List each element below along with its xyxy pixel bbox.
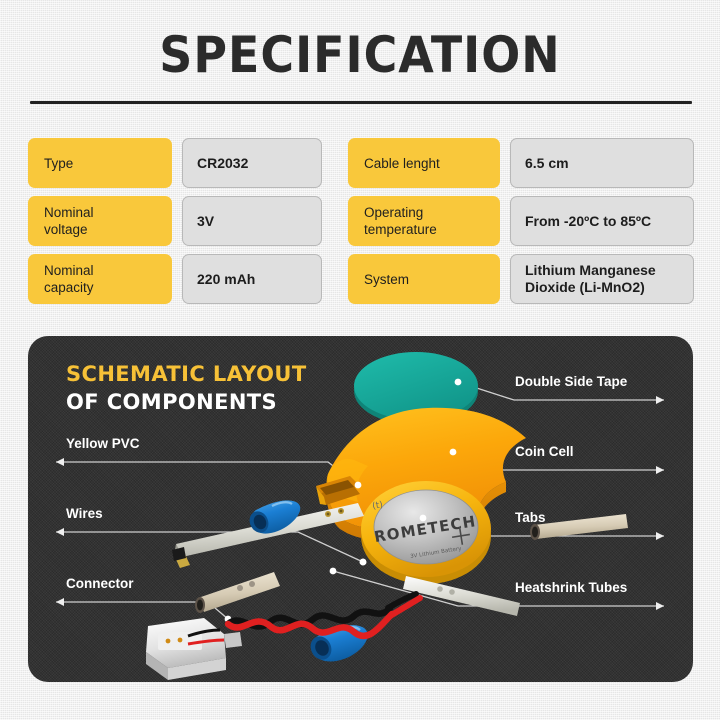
spec-value: CR2032 — [182, 138, 322, 188]
spec-value: From -20ºC to 85ºC — [510, 196, 694, 246]
diagram-label-wires: Wires — [66, 506, 103, 522]
coin-cell-mark: (t) — [372, 500, 384, 512]
diagram-label-yellow-pvc: Yellow PVC — [66, 436, 140, 452]
schematic-diagram-panel: SCHEMATIC LAYOUT OF COMPONENTS — [28, 336, 693, 682]
spec-row: Cable lenght 6.5 cm — [348, 138, 694, 188]
coin-cell-part: ROMETECH 3V Lithium Battery (t) — [361, 481, 491, 584]
spec-key: Cable lenght — [348, 138, 500, 188]
spec-key: Nominalvoltage — [28, 196, 172, 246]
leader-dot-heatshrink — [330, 568, 337, 575]
diagram-label-heatshrink-tubes: Heatshrink Tubes — [515, 580, 627, 596]
spec-value: 3V — [182, 196, 322, 246]
leader-dot-tape — [455, 379, 462, 386]
leader-dot-wires — [360, 559, 367, 566]
spec-row: Operatingtemperature From -20ºC to 85ºC — [348, 196, 694, 246]
diagram-label-double-side-tape: Double Side Tape — [515, 374, 627, 390]
spec-row: System Lithium ManganeseDioxide (Li-MnO2… — [348, 254, 694, 304]
spec-column-right: Cable lenght 6.5 cm Operatingtemperature… — [348, 138, 694, 312]
leader-arrow-left — [56, 458, 64, 606]
spec-value: Lithium ManganeseDioxide (Li-MnO2) — [510, 254, 694, 304]
wires-part — [228, 594, 420, 636]
spec-key: Operatingtemperature — [348, 196, 500, 246]
spec-key: Type — [28, 138, 172, 188]
spec-key: Nominalcapacity — [28, 254, 172, 304]
diagram-label-coin-cell: Coin Cell — [515, 444, 574, 460]
spec-key: System — [348, 254, 500, 304]
header-divider — [30, 101, 692, 104]
heatshrink-tube-bottom-part — [195, 572, 280, 613]
leader-dot-pvc — [355, 482, 362, 489]
spec-row: Nominalcapacity 220 mAh — [28, 254, 322, 304]
leader-dot-coincell — [450, 449, 457, 456]
spec-row: Type CR2032 — [28, 138, 322, 188]
spec-value: 220 mAh — [182, 254, 322, 304]
spec-value: 6.5 cm — [510, 138, 694, 188]
leader-dot-tab — [420, 515, 427, 522]
diagram-label-connector: Connector — [66, 576, 134, 592]
spec-row: Nominalvoltage 3V — [28, 196, 322, 246]
diagram-label-tabs: Tabs — [515, 510, 546, 526]
page-title: SPECIFICATION — [0, 24, 720, 86]
spec-column-left: Type CR2032 Nominalvoltage 3V Nominalcap… — [28, 138, 322, 312]
leader-arrow-right — [656, 396, 664, 610]
